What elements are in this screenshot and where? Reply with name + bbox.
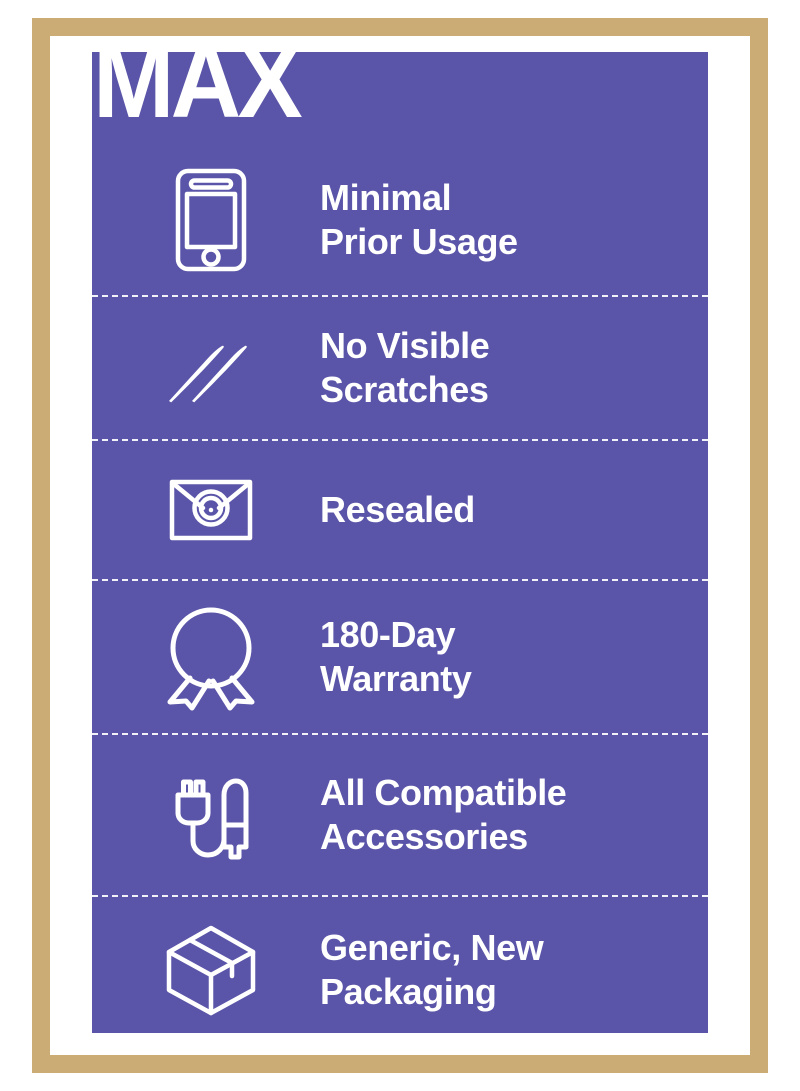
feature-row: No Visible Scratches (92, 297, 708, 439)
feature-row: Generic, New Packaging (92, 897, 708, 1043)
feature-icon-cell (92, 479, 320, 541)
feature-icon-cell (92, 767, 320, 863)
feature-row: Resealed (92, 441, 708, 579)
feature-icon-cell (92, 167, 320, 273)
brand-wordmark: MAX (93, 30, 299, 134)
feature-icon-cell (92, 331, 320, 405)
feature-icon-cell (92, 924, 320, 1016)
feature-label: No Visible Scratches (320, 324, 708, 412)
poster-root: MAX Minimal Prior Usage (0, 0, 800, 1091)
feature-label: All Compatible Accessories (320, 771, 708, 859)
sealed-envelope-icon (169, 479, 253, 541)
feature-label: 180-Day Warranty (320, 613, 708, 701)
smartphone-icon (174, 167, 248, 273)
feature-row: Minimal Prior Usage (92, 145, 708, 295)
feature-label: Minimal Prior Usage (320, 176, 708, 264)
award-ribbon-icon (159, 603, 263, 711)
scratches-icon (164, 331, 258, 405)
usb-cable-icon (172, 767, 250, 863)
feature-label: Resealed (320, 488, 708, 532)
package-box-icon (165, 924, 257, 1016)
feature-row: All Compatible Accessories (92, 735, 708, 895)
feature-row: 180-Day Warranty (92, 581, 708, 733)
feature-icon-cell (92, 603, 320, 711)
feature-label: Generic, New Packaging (320, 926, 708, 1014)
feature-list: Minimal Prior Usage No Visible Scratches (92, 145, 708, 1033)
